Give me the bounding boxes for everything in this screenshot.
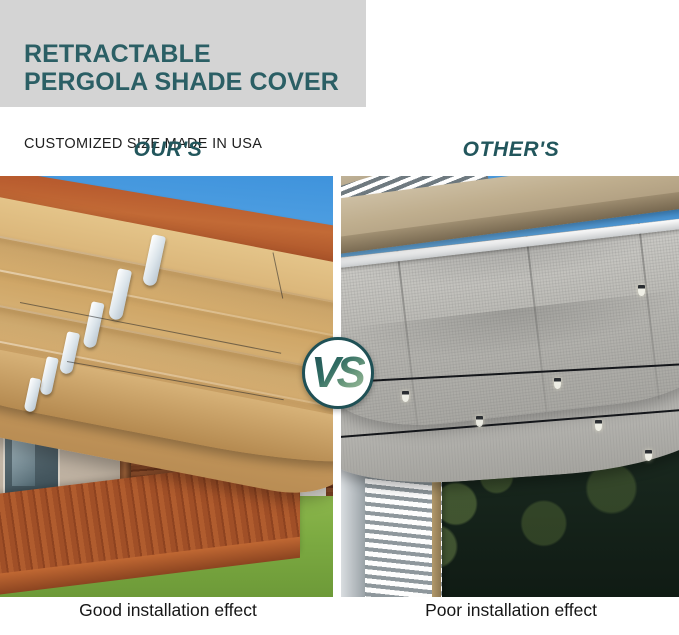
light-bulb (402, 391, 409, 402)
vs-badge: VS (302, 337, 374, 409)
light-bulb (476, 416, 483, 427)
headline-line-1: RETRACTABLE (24, 40, 211, 68)
photo-panel-ours (0, 176, 333, 597)
comparison-labels-row: OUR'S OTHER'S (0, 138, 679, 174)
label-others: OTHER'S (343, 138, 679, 162)
header-banner: RETRACTABLE PERGOLA SHADE COVER CUSTOMIZ… (0, 0, 366, 107)
scene-poor-installation (341, 176, 679, 597)
scene-good-installation (0, 176, 333, 597)
page-title: RETRACTABLE PERGOLA SHADE COVER (24, 12, 366, 124)
light-bulb (595, 420, 602, 431)
headline-line-2: PERGOLA SHADE COVER (24, 68, 366, 96)
light-bulb (645, 450, 652, 461)
light-bulb (554, 378, 561, 389)
caption-poor: Poor installation effect (343, 600, 679, 621)
captions-row: Good installation effect Poor installati… (0, 600, 679, 635)
photo-panel-others (341, 176, 679, 597)
label-ours: OUR'S (0, 138, 336, 162)
vs-badge-label: VS (311, 351, 365, 395)
caption-good: Good installation effect (0, 600, 336, 621)
